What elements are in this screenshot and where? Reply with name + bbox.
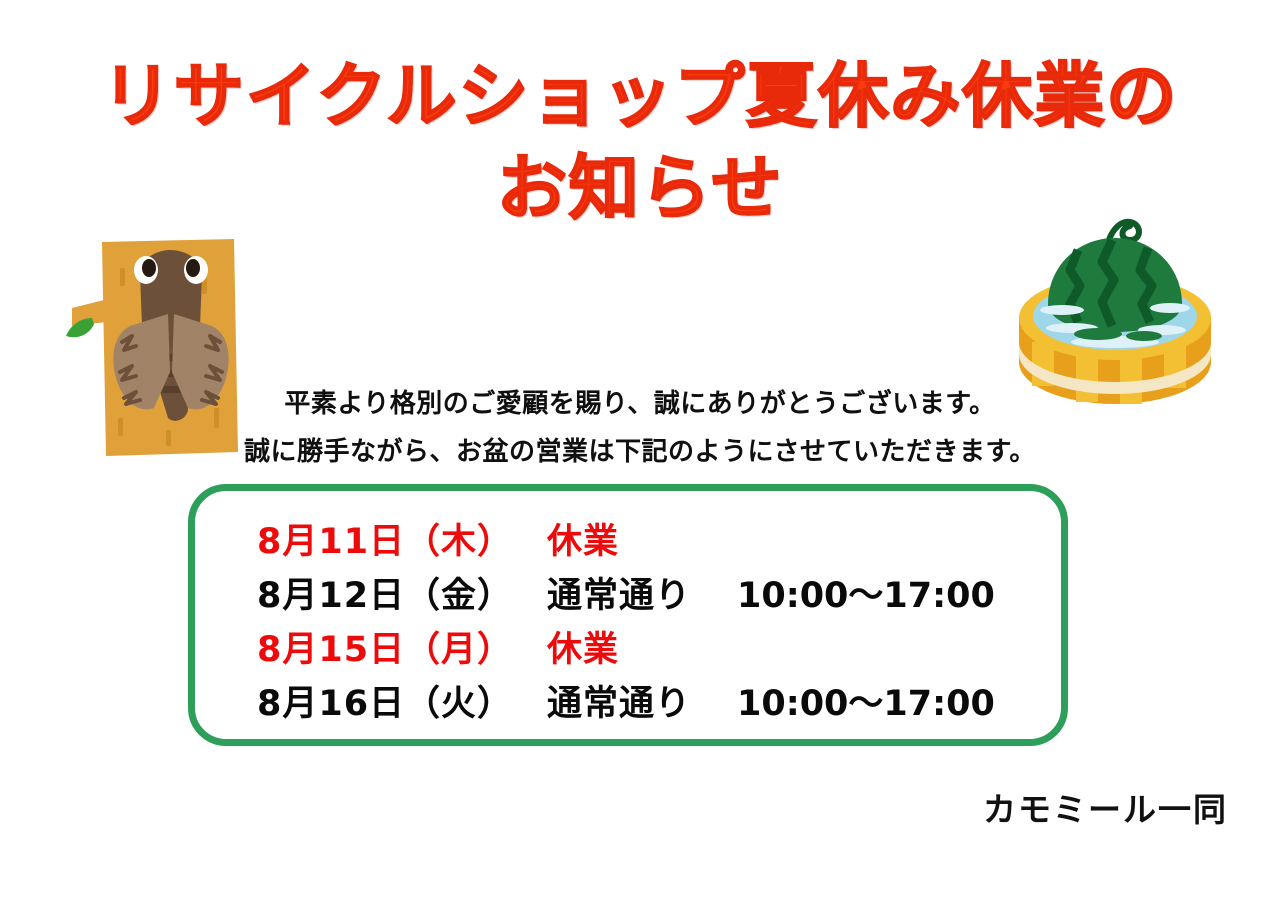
lead-line-1: 平素より格別のご愛顧を賜り、誠にありがとうございます。: [0, 380, 1280, 428]
lead-paragraphs: 平素より格別のご愛顧を賜り、誠にありがとうございます。 誠に勝手ながら、お盆の営…: [0, 380, 1280, 476]
schedule-status: 休業: [547, 513, 737, 564]
schedule-box: 8月11日（木） 休業 8月12日（金） 通常通り 10:00〜17:00 8月…: [188, 484, 1068, 746]
schedule-date: 8月12日（金）: [257, 567, 547, 618]
poster-canvas: リサイクルショップ夏休み休業の お知らせ: [0, 0, 1280, 905]
schedule-hours: 10:00〜17:00: [737, 675, 995, 726]
lead-line-2: 誠に勝手ながら、お盆の営業は下記のようにさせていただきます。: [0, 428, 1280, 476]
schedule-date: 8月11日（木）: [257, 513, 547, 564]
schedule-row: 8月11日（木） 休業: [257, 513, 995, 567]
schedule-status: 通常通り: [547, 675, 737, 726]
schedule-list: 8月11日（木） 休業 8月12日（金） 通常通り 10:00〜17:00 8月…: [257, 513, 995, 729]
schedule-row: 8月12日（金） 通常通り 10:00〜17:00: [257, 567, 995, 621]
schedule-date: 8月15日（月）: [257, 621, 547, 672]
branch-with-leaf-icon: [66, 300, 106, 337]
schedule-row: 8月16日（火） 通常通り 10:00〜17:00: [257, 675, 995, 729]
schedule-row: 8月15日（月） 休業: [257, 621, 995, 675]
schedule-status: 通常通り: [547, 567, 737, 618]
title-line-1: リサイクルショップ夏休み休業の: [0, 52, 1280, 140]
schedule-status: 休業: [547, 621, 737, 672]
schedule-hours: 10:00〜17:00: [737, 567, 995, 618]
schedule-date: 8月16日（火）: [257, 675, 547, 726]
signature: カモミール一同: [983, 783, 1228, 831]
